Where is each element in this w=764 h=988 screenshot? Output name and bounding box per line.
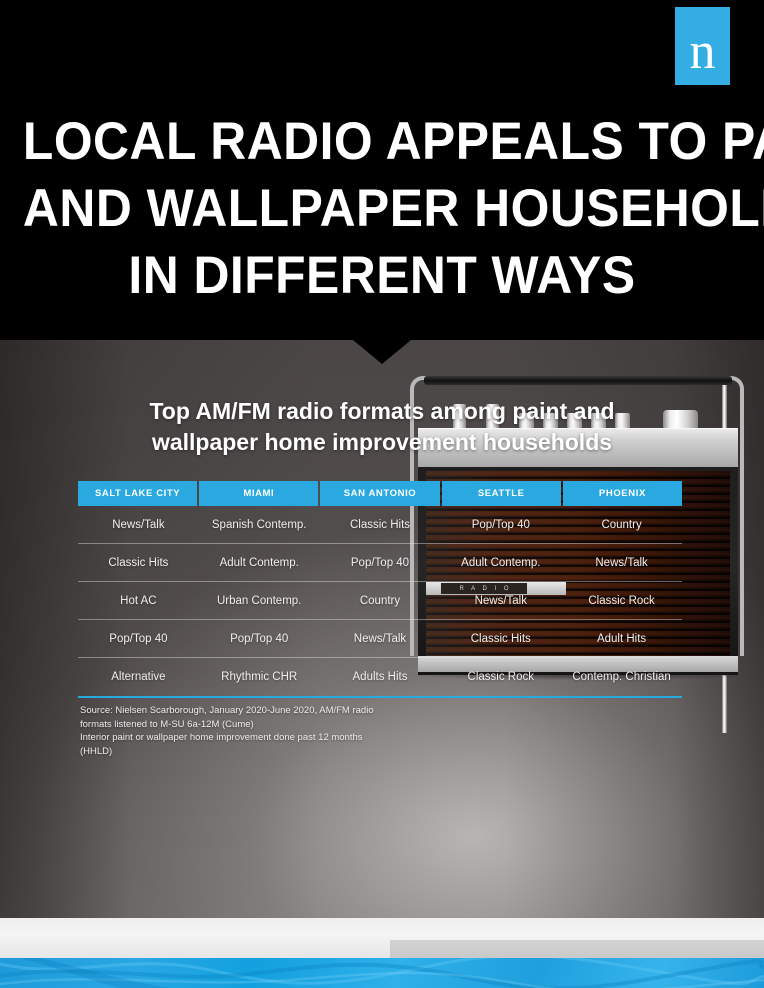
table-cell: Classic Hits	[440, 620, 561, 657]
source-line-2: formats listened to M-SU 6a-12M (Cume)	[80, 718, 500, 732]
column-header-seattle: SEATTLE	[442, 481, 561, 506]
chart-subtitle: Top AM/FM radio formats among paint and …	[82, 396, 682, 458]
table-cell: News/Talk	[561, 544, 682, 581]
table-row: Pop/Top 40 Pop/Top 40 News/Talk Classic …	[78, 620, 682, 658]
table-cell: Country	[320, 582, 441, 619]
table-cell: Alternative	[78, 658, 199, 696]
table-cell: Spanish Contemp.	[199, 506, 320, 543]
table-cell: Adult Contemp.	[199, 544, 320, 581]
table-cell: Adult Contemp.	[440, 544, 561, 581]
page-title-line-1: LOCAL RADIO APPEALS TO PAINT	[23, 108, 741, 175]
source-line-1: Source: Nielsen Scarborough, January 202…	[80, 704, 500, 718]
chart-subtitle-line-1: Top AM/FM radio formats among paint and	[82, 396, 682, 427]
table-cell: Classic Rock	[440, 658, 561, 696]
table-cell: Contemp. Christian	[561, 658, 682, 696]
table-cell: Classic Rock	[561, 582, 682, 619]
source-line-4: (HHLD)	[80, 745, 500, 759]
source-note: Source: Nielsen Scarborough, January 202…	[80, 704, 500, 758]
nielsen-logo: n	[675, 7, 730, 85]
column-header-miami: MIAMI	[199, 481, 318, 506]
table-cell: Urban Contemp.	[199, 582, 320, 619]
content-layer: Top AM/FM radio formats among paint and …	[0, 340, 764, 988]
table-cell: Country	[561, 506, 682, 543]
table-cell: News/Talk	[320, 620, 441, 657]
table-cell: News/Talk	[440, 582, 561, 619]
table-cell: Classic Hits	[320, 506, 441, 543]
column-header-san-antonio: SAN ANTONIO	[320, 481, 439, 506]
header-arrow-notch	[353, 340, 411, 364]
nielsen-logo-glyph: n	[690, 26, 716, 78]
column-header-salt-lake-city: SALT LAKE CITY	[78, 481, 197, 506]
column-header-phoenix: PHOENIX	[563, 481, 682, 506]
table-row: Alternative Rhythmic CHR Adults Hits Cla…	[78, 658, 682, 696]
source-line-3: Interior paint or wallpaper home improve…	[80, 731, 500, 745]
table-cell: News/Talk	[78, 506, 199, 543]
table-cell: Adults Hits	[320, 658, 441, 696]
table-row: News/Talk Spanish Contemp. Classic Hits …	[78, 506, 682, 544]
header-banner: n LOCAL RADIO APPEALS TO PAINT AND WALLP…	[0, 0, 764, 340]
table-cell: Pop/Top 40	[199, 620, 320, 657]
chart-subtitle-line-2: wallpaper home improvement households	[82, 427, 682, 458]
table-cell: Rhythmic CHR	[199, 658, 320, 696]
table-row: Hot AC Urban Contemp. Country News/Talk …	[78, 582, 682, 620]
page-title: LOCAL RADIO APPEALS TO PAINT AND WALLPAP…	[23, 108, 741, 309]
table-cell: Classic Hits	[78, 544, 199, 581]
infographic-page: R A D I O Top AM/FM radio formats among …	[0, 0, 764, 988]
page-title-line-2: AND WALLPAPER HOUSEHOLDS	[23, 175, 741, 242]
table-row: Classic Hits Adult Contemp. Pop/Top 40 A…	[78, 544, 682, 582]
table-cell: Hot AC	[78, 582, 199, 619]
page-title-line-3: IN DIFFERENT WAYS	[23, 242, 741, 309]
table-cell: Pop/Top 40	[78, 620, 199, 657]
table-cell: Adult Hits	[561, 620, 682, 657]
table-header-row: SALT LAKE CITY MIAMI SAN ANTONIO SEATTLE…	[78, 481, 682, 506]
table-cell: Pop/Top 40	[320, 544, 441, 581]
formats-table: SALT LAKE CITY MIAMI SAN ANTONIO SEATTLE…	[78, 481, 682, 698]
table-cell: Pop/Top 40	[440, 506, 561, 543]
table-bottom-rule	[78, 696, 682, 698]
